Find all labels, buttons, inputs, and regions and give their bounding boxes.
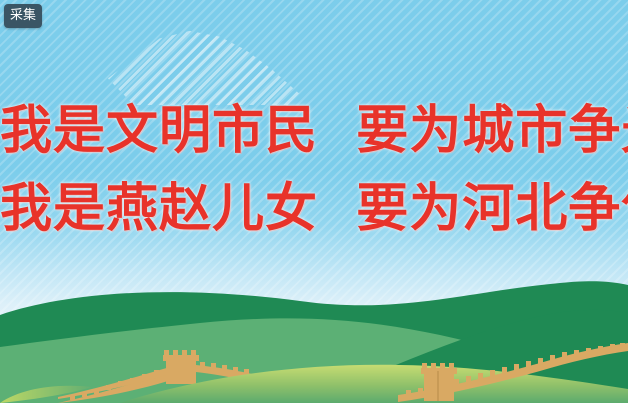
landscape-illustration	[0, 273, 628, 403]
banner-screenshot: 我是文明市民 要为城市争光 我是燕赵儿女 要为河北争气 采集	[0, 0, 628, 403]
capture-button[interactable]: 采集	[4, 4, 42, 28]
